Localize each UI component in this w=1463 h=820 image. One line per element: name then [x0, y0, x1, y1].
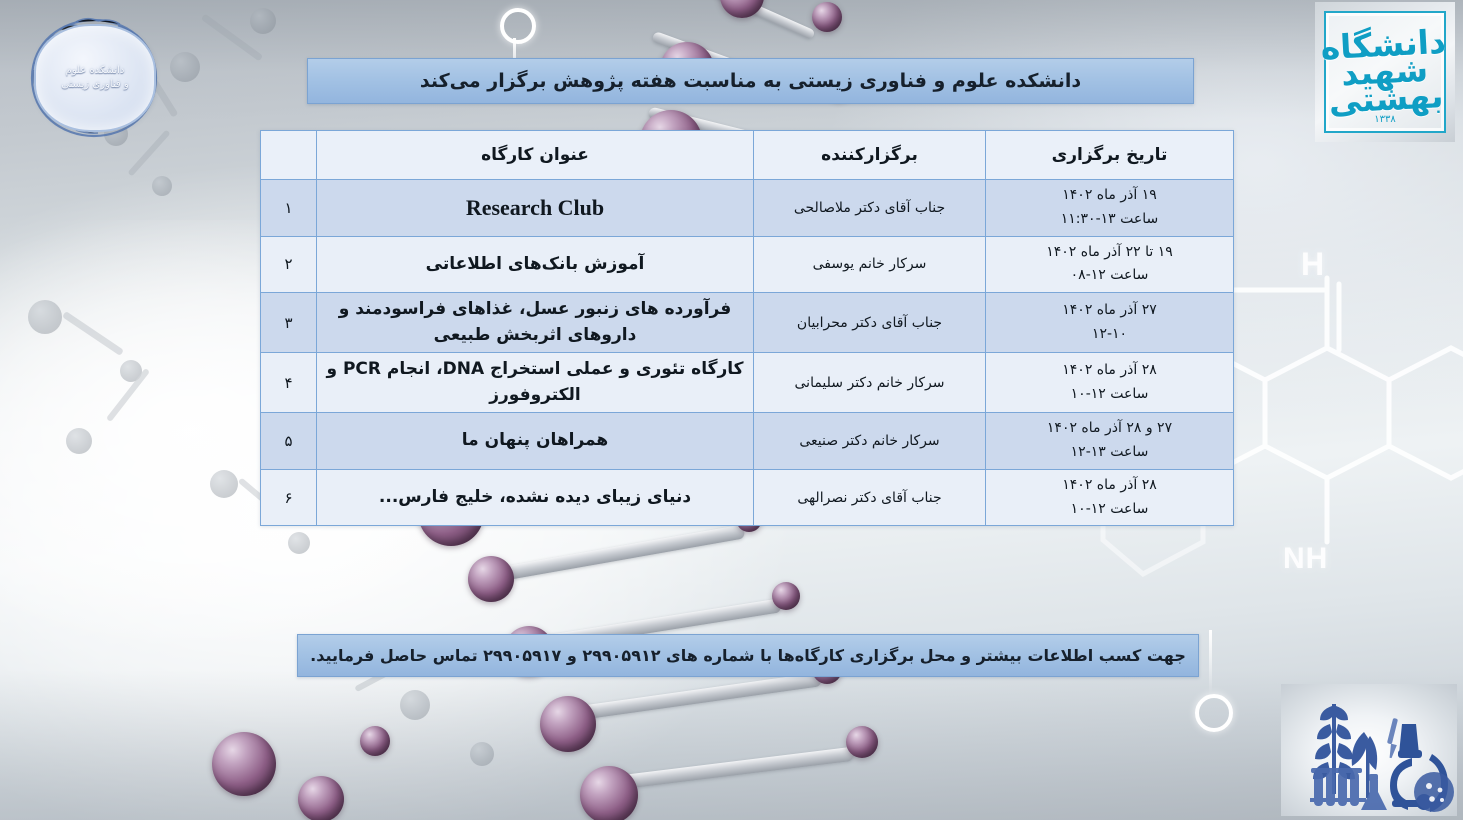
cell-date-line-2: ساعت ۱۲-۱۰: [994, 498, 1225, 522]
oxygen-ring-icon-lower: [1195, 694, 1233, 732]
table-row: ۱۹ آذر ماه ۱۴۰۲ساعت ۱۳-۱۱:۳۰جناب آقای دک…: [261, 180, 1234, 237]
cell-row-number: ۵: [261, 413, 317, 470]
cell-workshop-title: همراهان پنهان ما: [317, 413, 754, 470]
cell-host: سرکار خانم دکتر سلیمانی: [754, 353, 986, 413]
cell-host: جناب آقای دکتر نصرالهی: [754, 469, 986, 526]
column-header-date: تاریخ برگزاری: [986, 131, 1234, 180]
cell-workshop-title: فرآورده های زنبور عسل، غذاهای فراسودمند …: [317, 293, 754, 353]
faculty-seal-body: دانشکده علوم و فناوری زیستی: [34, 24, 156, 132]
cell-date-line-1: ۲۷ و ۲۸ آذر ماه ۱۴۰۲: [994, 417, 1225, 441]
chem-label-h: H: [1301, 246, 1325, 283]
cell-row-number: ۱: [261, 180, 317, 237]
poster-canvas: CH₃ H NH دانشکده علوم و فناوری زیستی دان…: [0, 0, 1463, 820]
cell-host: سرکار خانم یوسفی: [754, 236, 986, 293]
cell-date: ۱۹ تا ۲۲ آذر ماه ۱۴۰۲ساعت ۱۲-۰۸: [986, 236, 1234, 293]
cell-workshop-title: Research Club: [317, 180, 754, 237]
faculty-seal-line-1: دانشکده علوم: [66, 64, 125, 79]
column-header-title: عنوان کارگاه: [317, 131, 754, 180]
bottom-sheen: [0, 670, 1463, 820]
column-header-host: برگزارکننده: [754, 131, 986, 180]
cell-workshop-title: دنیای زیبای دیده نشده، خلیج فارس...: [317, 469, 754, 526]
cell-row-number: ۲: [261, 236, 317, 293]
cell-date-line-2: ساعت ۱۳-۱۱:۳۰: [994, 208, 1225, 232]
cell-date: ۲۸ آذر ماه ۱۴۰۲ساعت ۱۲-۱۰: [986, 469, 1234, 526]
title-banner: دانشکده علوم و فناوری زیستی به مناسبت هف…: [307, 58, 1194, 104]
faculty-seal-line-2: و فناوری زیستی: [61, 78, 128, 93]
cell-date-line-2: ساعت ۱۳-۱۲: [994, 441, 1225, 465]
cell-date-line-1: ۲۷ آذر ماه ۱۴۰۲: [994, 299, 1225, 323]
cell-date-line-2: ساعت ۱۲-۰۸: [994, 264, 1225, 288]
table-row: ۲۷ و ۲۸ آذر ماه ۱۴۰۲ساعت ۱۳-۱۲سرکار خانم…: [261, 413, 1234, 470]
cell-date-line-1: ۱۹ آذر ماه ۱۴۰۲: [994, 184, 1225, 208]
university-logo-frame: دانشگاه شهید بهشتی ۱۳۳۸: [1324, 11, 1446, 133]
cell-date-line-1: ۲۸ آذر ماه ۱۴۰۲: [994, 474, 1225, 498]
table-row: ۲۸ آذر ماه ۱۴۰۲ساعت ۱۲-۱۰سرکار خانم دکتر…: [261, 353, 1234, 413]
biotech-illustration-icon: [1284, 688, 1454, 816]
table-row: ۱۹ تا ۲۲ آذر ماه ۱۴۰۲ساعت ۱۲-۰۸سرکار خان…: [261, 236, 1234, 293]
footer-contact-banner: جهت کسب اطلاعات بیشتر و محل برگزاری کارگ…: [297, 634, 1199, 677]
faculty-seal: دانشکده علوم و فناوری زیستی: [18, 12, 170, 144]
university-logo-script: دانشگاه شهید بهشتی: [1320, 28, 1449, 116]
cell-host: جناب آقای دکتر محرابیان: [754, 293, 986, 353]
cell-row-number: ۴: [261, 353, 317, 413]
biotech-logo: [1281, 684, 1457, 816]
cell-workshop-title: آموزش بانک‌های اطلاعاتی: [317, 236, 754, 293]
cell-row-number: ۶: [261, 469, 317, 526]
university-logo-year: ۱۳۳۸: [1326, 114, 1444, 125]
cell-date-line-1: ۲۸ آذر ماه ۱۴۰۲: [994, 359, 1225, 383]
cell-date-line-1: ۱۹ تا ۲۲ آذر ماه ۱۴۰۲: [994, 241, 1225, 265]
cell-date-line-2: ساعت ۱۲-۱۰: [994, 383, 1225, 407]
column-header-number: [261, 131, 317, 180]
cell-workshop-title: کارگاه تئوری و عملی استخراج DNA، انجام P…: [317, 353, 754, 413]
oxygen-ring-icon: [500, 8, 536, 44]
chem-label-nh: NH: [1283, 542, 1328, 576]
table-header-row: تاریخ برگزاری برگزارکننده عنوان کارگاه: [261, 131, 1234, 180]
cell-host: جناب آقای دکتر ملاصالحی: [754, 180, 986, 237]
cell-date: ۱۹ آذر ماه ۱۴۰۲ساعت ۱۳-۱۱:۳۰: [986, 180, 1234, 237]
table-row: ۲۸ آذر ماه ۱۴۰۲ساعت ۱۲-۱۰جناب آقای دکتر …: [261, 469, 1234, 526]
cell-date: ۲۷ و ۲۸ آذر ماه ۱۴۰۲ساعت ۱۳-۱۲: [986, 413, 1234, 470]
oxygen-ring-stem-lower: [1209, 630, 1212, 694]
cell-row-number: ۳: [261, 293, 317, 353]
cell-date: ۲۷ آذر ماه ۱۴۰۲۱۲-۱۰: [986, 293, 1234, 353]
cell-date: ۲۸ آذر ماه ۱۴۰۲ساعت ۱۲-۱۰: [986, 353, 1234, 413]
table-row: ۲۷ آذر ماه ۱۴۰۲۱۲-۱۰جناب آقای دکتر محراب…: [261, 293, 1234, 353]
cell-host: سرکار خانم دکتر صنیعی: [754, 413, 986, 470]
university-logo: دانشگاه شهید بهشتی ۱۳۳۸: [1315, 2, 1455, 142]
workshop-schedule-table: تاریخ برگزاری برگزارکننده عنوان کارگاه ۱…: [260, 130, 1234, 526]
cell-date-line-2: ۱۲-۱۰: [994, 323, 1225, 347]
